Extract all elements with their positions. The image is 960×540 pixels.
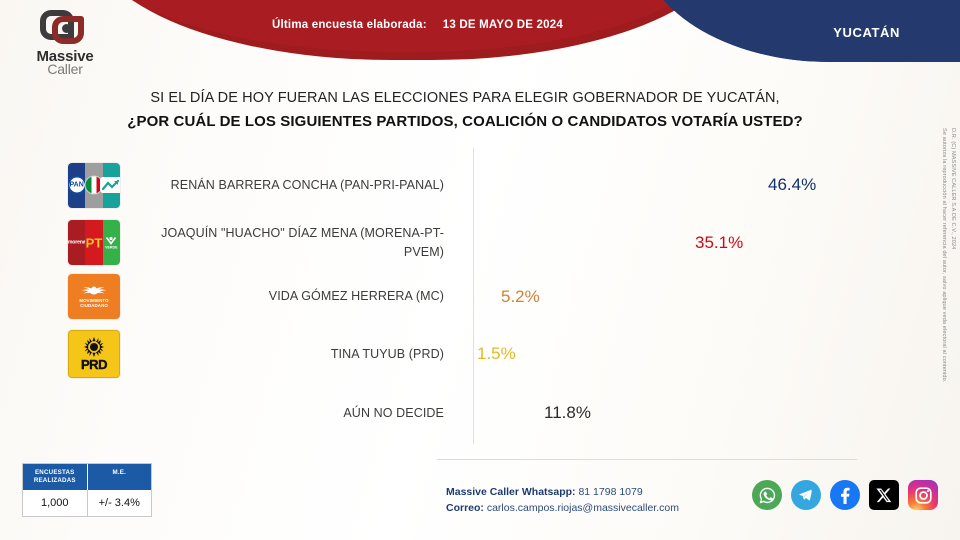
facebook-icon[interactable] bbox=[830, 480, 860, 510]
stats-value-row: 1,000 +/- 3.4% bbox=[23, 490, 151, 516]
telegram-icon[interactable] bbox=[791, 480, 821, 510]
title-line-1: SI EL DÍA DE HOY FUERAN LAS ELECCIONES P… bbox=[0, 88, 930, 110]
whatsapp-number[interactable]: 81 1798 1079 bbox=[576, 486, 643, 498]
stats-header-margin: M.E. bbox=[88, 464, 152, 490]
coalition-morena-pt-pvem-logo: morena PT VERDE bbox=[68, 220, 120, 265]
table-row: PAN RENÁ bbox=[0, 162, 930, 208]
eagle-wings-icon bbox=[79, 285, 109, 296]
poll-infographic: Última encuesta elaborada:13 DE MAYO DE … bbox=[0, 0, 960, 540]
bar-value-label: 35.1% bbox=[695, 233, 743, 253]
candidate-name: JOAQUÍN "HUACHO" DÍAZ MENA (MORENA-PT-PV… bbox=[128, 224, 458, 260]
social-links bbox=[752, 480, 938, 510]
prd-logo: PRD bbox=[68, 330, 120, 378]
table-row: AÚN NO DECIDE 11.8% bbox=[0, 392, 930, 434]
bar-value-label: 5.2% bbox=[501, 287, 540, 307]
candidate-name: AÚN NO DECIDE bbox=[128, 404, 458, 422]
mc-label: MOVIMIENTO CIUDADANO bbox=[68, 298, 120, 309]
table-row: PRD TINA TUYUB (PRD) 1.5% bbox=[0, 334, 930, 374]
survey-date-value: 13 DE MAYO DE 2024 bbox=[443, 19, 563, 31]
prd-label: PRD bbox=[81, 358, 107, 371]
email-address[interactable]: carlos.campos.riojas@massivecaller.com bbox=[484, 502, 679, 514]
x-twitter-icon[interactable] bbox=[869, 480, 899, 510]
instagram-icon[interactable] bbox=[908, 480, 938, 510]
survey-date: Última encuesta elaborada:13 DE MAYO DE … bbox=[272, 19, 563, 31]
massive-caller-logo: Massive Caller bbox=[22, 8, 108, 74]
stats-value-surveys: 1,000 bbox=[23, 490, 88, 516]
stats-header-row: ENCUESTAS REALIZADAS M.E. bbox=[23, 464, 151, 490]
logo-text-bottom: Caller bbox=[22, 61, 108, 77]
footer-divider bbox=[437, 459, 857, 460]
movimiento-ciudadano-logo: MOVIMIENTO CIUDADANO bbox=[68, 274, 120, 319]
sun-icon bbox=[81, 337, 107, 359]
stats-value-margin: +/- 3.4% bbox=[88, 490, 152, 516]
email-line: Correo: carlos.campos.riojas@massivecall… bbox=[446, 500, 679, 516]
candidate-name: RENÁN BARRERA CONCHA (PAN-PRI-PANAL) bbox=[128, 176, 458, 194]
pan-emblem: PAN bbox=[68, 176, 86, 195]
contact-info: Massive Caller Whatsapp: 81 1798 1079 Co… bbox=[446, 484, 679, 517]
page-title: SI EL DÍA DE HOY FUERAN LAS ELECCIONES P… bbox=[0, 88, 930, 133]
bar-value-label: 46.4% bbox=[768, 175, 816, 195]
bar-value-label: 11.8% bbox=[544, 403, 591, 423]
bar-chart: PAN RENÁ bbox=[0, 146, 930, 446]
email-label: Correo: bbox=[446, 502, 484, 514]
whatsapp-label: Massive Caller Whatsapp: bbox=[446, 486, 576, 498]
candidate-name: VIDA GÓMEZ HERRERA (MC) bbox=[128, 287, 458, 305]
copyright-line-2: Se autoriza la reproducción al hacer ref… bbox=[941, 128, 947, 383]
title-line-2: ¿POR CUÁL DE LOS SIGUIENTES PARTIDOS, CO… bbox=[0, 110, 930, 133]
header-blue-shape-inner bbox=[640, 0, 960, 62]
survey-date-label: Última encuesta elaborada: bbox=[272, 19, 427, 31]
morena-emblem: morena bbox=[68, 240, 85, 245]
table-row: MOVIMIENTO CIUDADANO VIDA GÓMEZ HERRERA … bbox=[0, 275, 930, 318]
whatsapp-icon[interactable] bbox=[752, 480, 782, 510]
pvem-emblem: VERDE bbox=[105, 235, 118, 250]
bar-value-label: 1.5% bbox=[477, 344, 516, 364]
state-name: YUCATÁN bbox=[833, 25, 900, 40]
panal-emblem bbox=[100, 177, 120, 193]
stats-header-surveys: ENCUESTAS REALIZADAS bbox=[23, 464, 88, 490]
coalition-pan-pri-panal-logo: PAN bbox=[68, 163, 120, 208]
speech-bubbles-icon bbox=[38, 8, 90, 48]
copyright-notice: D.R. (C) MASSIVE CALLER S.A DE C.V., 202… bbox=[932, 128, 958, 448]
copyright-line-1: D.R. (C) MASSIVE CALLER S.A DE C.V., 202… bbox=[950, 128, 956, 249]
candidate-name: TINA TUYUB (PRD) bbox=[128, 345, 458, 363]
pt-emblem: PT bbox=[86, 235, 103, 250]
survey-stats-table: ENCUESTAS REALIZADAS M.E. 1,000 +/- 3.4% bbox=[22, 463, 152, 517]
whatsapp-line: Massive Caller Whatsapp: 81 1798 1079 bbox=[446, 484, 679, 500]
header-banner: Última encuesta elaborada:13 DE MAYO DE … bbox=[0, 0, 960, 82]
table-row: morena PT VERDE JOAQUÍN " bbox=[0, 221, 930, 264]
